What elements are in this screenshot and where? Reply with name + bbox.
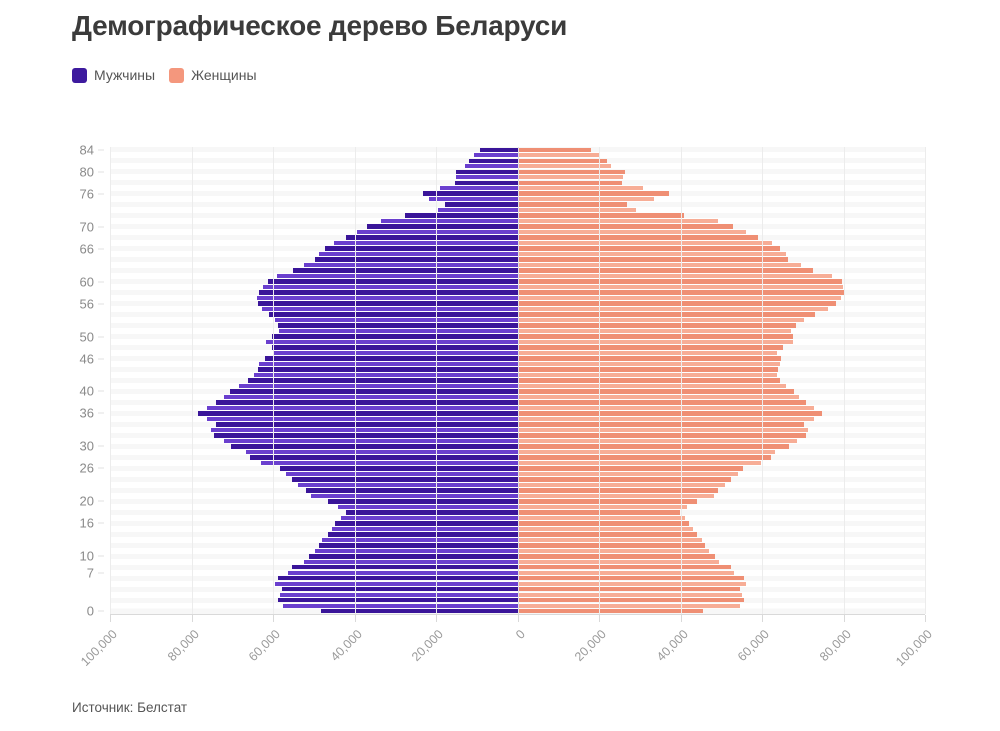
y-axis-tick-label: 40 [80,384,94,399]
gridline [355,147,356,614]
bar-female[interactable] [518,268,814,272]
bar-male[interactable] [469,159,517,163]
bar-male[interactable] [474,153,518,157]
bar-female[interactable] [518,406,814,410]
y-axis-tick-label: 30 [80,439,94,454]
bar-male[interactable] [315,549,518,553]
y-axis-tick-label: 36 [80,406,94,421]
bar-female[interactable] [518,175,623,179]
bar-male[interactable] [319,543,517,547]
plot-area [110,147,925,614]
bar-male[interactable] [273,351,518,355]
gridline [273,147,274,614]
source-note: Источник: Белстат [72,700,187,715]
bar-female[interactable] [518,554,715,558]
bar-male[interactable] [198,411,517,415]
bar-male[interactable] [278,576,518,580]
bar-female[interactable] [518,159,607,163]
y-axis-tick [98,501,104,502]
bar-female[interactable] [518,246,780,250]
y-axis-tick-label: 16 [80,516,94,531]
bar-female[interactable] [518,213,685,217]
bar-female[interactable] [518,527,693,531]
bar-female[interactable] [518,389,795,393]
x-axis-tick-label: 100,000 [78,627,120,669]
y-axis-tick [98,572,104,573]
bar-male[interactable] [292,565,517,569]
y-axis-tick [98,248,104,249]
bar-female[interactable] [518,301,837,305]
bar-female[interactable] [518,148,592,152]
bar-male[interactable] [277,274,517,278]
bar-male[interactable] [280,466,518,470]
bar-male[interactable] [278,323,517,327]
y-axis-tick [98,336,104,337]
x-axis-tick [110,615,111,622]
bar-male[interactable] [231,444,517,448]
zero-axis-line [518,147,519,614]
legend-label-females: Женщины [191,67,256,83]
x-axis-tick [273,615,274,622]
bar-male[interactable] [250,455,517,459]
bar-male[interactable] [269,312,517,316]
x-axis-tick-label: 20,000 [572,627,609,664]
bar-female[interactable] [518,532,698,536]
bar-female[interactable] [518,395,799,399]
y-axis-tick-label: 20 [80,494,94,509]
y-axis-tick [98,446,104,447]
bar-male[interactable] [278,598,518,602]
legend-swatch-males [72,68,87,83]
bar-female[interactable] [518,499,698,503]
y-axis-tick-label: 76 [80,186,94,201]
bar-female[interactable] [518,367,778,371]
legend-item-males[interactable]: Мужчины [72,67,155,83]
bar-female[interactable] [518,329,791,333]
bar-male[interactable] [304,560,518,564]
y-axis-tick [98,171,104,172]
bar-female[interactable] [518,307,829,311]
x-axis-tick-label: 40,000 [327,627,364,664]
x-axis-labels: 100,00080,00060,00040,00020,000020,00040… [0,615,1000,685]
bar-female[interactable] [518,197,655,201]
bar-male[interactable] [262,307,518,311]
y-axis-tick [98,611,104,612]
bar-female[interactable] [518,208,636,212]
bar-male[interactable] [338,505,517,509]
bar-female[interactable] [518,378,781,382]
bar-male[interactable] [293,268,517,272]
y-axis-tick [98,226,104,227]
y-axis-tick [98,149,104,150]
bar-male[interactable] [440,186,517,190]
bar-male[interactable] [259,362,517,366]
bar-male[interactable] [335,521,517,525]
bar-male[interactable] [275,318,518,322]
bar-female[interactable] [518,323,796,327]
bar-male[interactable] [346,510,518,514]
bar-female[interactable] [518,334,793,338]
bar-male[interactable] [445,202,518,206]
bar-female[interactable] [518,483,726,487]
bar-male[interactable] [456,175,518,179]
bar-male[interactable] [341,516,518,520]
population-pyramid-chart: Демографическое дерево Беларуси Мужчины … [0,0,1000,731]
bar-male[interactable] [315,257,517,261]
bar-male[interactable] [248,378,518,382]
y-axis-tick-label: 66 [80,241,94,256]
bar-male[interactable] [298,483,517,487]
bar-female[interactable] [518,488,718,492]
y-axis-labels: 8480767066605650464036302620161070 [0,147,104,614]
bar-female[interactable] [518,202,628,206]
bar-male[interactable] [214,433,518,437]
bar-male[interactable] [405,213,517,217]
x-axis-tick [599,615,600,622]
bar-female[interactable] [518,422,804,426]
gridline [762,147,763,614]
x-axis-tick-label: 100,000 [893,627,935,669]
bar-female[interactable] [518,494,714,498]
bar-male[interactable] [357,230,518,234]
bar-male[interactable] [258,367,518,371]
bar-female[interactable] [518,593,743,597]
bar-male[interactable] [292,477,518,481]
x-axis-tick-label: 60,000 [735,627,772,664]
y-axis-tick-label: 10 [80,549,94,564]
bar-male[interactable] [224,395,518,399]
bar-male[interactable] [480,148,517,152]
bar-female[interactable] [518,538,703,542]
bar-male[interactable] [216,400,518,404]
bar-male[interactable] [259,290,518,294]
x-axis-tick [192,615,193,622]
bar-male[interactable] [246,450,518,454]
y-axis-tick [98,468,104,469]
bar-male[interactable] [367,224,517,228]
bar-female[interactable] [518,455,771,459]
bar-male[interactable] [304,263,517,267]
bar-male[interactable] [268,279,518,283]
bar-female[interactable] [518,576,745,580]
bar-male[interactable] [207,406,517,410]
bar-female[interactable] [518,263,802,267]
chart-legend: Мужчины Женщины [72,67,257,83]
bar-female[interactable] [518,153,601,157]
x-axis-tick-label: 80,000 [816,627,853,664]
bar-female[interactable] [518,587,741,591]
bar-male[interactable] [322,538,517,542]
bar-female[interactable] [518,466,744,470]
bar-male[interactable] [279,329,518,333]
x-axis-tick-label: 40,000 [653,627,690,664]
bar-female[interactable] [518,345,783,349]
bar-male[interactable] [319,252,518,256]
bar-male[interactable] [346,235,517,239]
bar-male[interactable] [465,164,517,168]
bar-female[interactable] [518,516,685,520]
y-axis-tick [98,358,104,359]
gridline [110,147,111,614]
bar-female[interactable] [518,439,797,443]
bar-female[interactable] [518,560,720,564]
gridline [844,147,845,614]
bar-male[interactable] [258,301,518,305]
bar-male[interactable] [332,527,517,531]
bar-male[interactable] [288,571,517,575]
bar-female[interactable] [518,384,787,388]
bar-female[interactable] [518,241,773,245]
bar-male[interactable] [334,241,518,245]
x-axis-tick [355,615,356,622]
bar-male[interactable] [224,439,518,443]
y-axis-tick [98,193,104,194]
bar-male[interactable] [263,285,517,289]
bar-female[interactable] [518,373,778,377]
bar-male[interactable] [207,417,518,421]
bar-female[interactable] [518,312,815,316]
y-axis-tick-label: 84 [80,142,94,157]
bar-female[interactable] [518,362,781,366]
bar-female[interactable] [518,477,732,481]
bar-female[interactable] [518,565,731,569]
y-axis-tick [98,303,104,304]
bar-female[interactable] [518,428,809,432]
gridline [925,147,926,614]
bar-male[interactable] [328,532,518,536]
bar-male[interactable] [286,472,518,476]
bar-female[interactable] [518,582,747,586]
x-axis-tick-label: 20,000 [409,627,446,664]
y-axis-tick-label: 26 [80,461,94,476]
bar-female[interactable] [518,543,705,547]
bar-male[interactable] [309,554,518,558]
bar-female[interactable] [518,219,718,223]
bar-female[interactable] [518,257,789,261]
bar-female[interactable] [518,351,778,355]
y-axis-tick-label: 60 [80,274,94,289]
x-axis-tick [762,615,763,622]
bar-male[interactable] [311,494,518,498]
bar-male[interactable] [257,296,517,300]
bar-male[interactable] [216,422,517,426]
bar-female[interactable] [518,340,794,344]
bar-female[interactable] [518,164,612,168]
bar-male[interactable] [283,604,518,608]
y-axis-tick [98,523,104,524]
gridline [436,147,437,614]
bar-female[interactable] [518,224,734,228]
bar-female[interactable] [518,571,735,575]
bar-female[interactable] [518,444,790,448]
bar-female[interactable] [518,191,669,195]
bar-male[interactable] [306,488,518,492]
bar-male[interactable] [239,384,517,388]
bar-male[interactable] [261,461,517,465]
bar-female[interactable] [518,186,644,190]
bar-female[interactable] [518,604,740,608]
bar-male[interactable] [381,219,518,223]
bar-female[interactable] [518,505,688,509]
y-axis-tick-label: 56 [80,296,94,311]
bar-female[interactable] [518,274,833,278]
gridline [192,147,193,614]
x-axis-tick-label: 60,000 [246,627,283,664]
bar-male[interactable] [254,373,517,377]
x-axis-tick-label: 0 [513,627,528,642]
bar-female[interactable] [518,235,758,239]
bar-female[interactable] [518,609,704,613]
legend-label-males: Мужчины [94,67,155,83]
y-axis-tick-label: 50 [80,329,94,344]
bar-male[interactable] [455,181,517,185]
bar-male[interactable] [438,208,517,212]
x-axis-tick [518,615,519,622]
bar-female[interactable] [518,356,781,360]
y-axis-tick [98,556,104,557]
bar-female[interactable] [518,170,626,174]
bar-male[interactable] [211,428,517,432]
bar-female[interactable] [518,417,814,421]
x-axis-tick [681,615,682,622]
bar-male[interactable] [272,345,518,349]
bar-female[interactable] [518,230,746,234]
y-axis-tick-label: 70 [80,219,94,234]
bar-male[interactable] [321,609,517,613]
bar-male[interactable] [265,356,518,360]
bar-male[interactable] [328,499,518,503]
bar-female[interactable] [518,472,738,476]
bar-female[interactable] [518,411,823,415]
bar-female[interactable] [518,521,690,525]
legend-item-females[interactable]: Женщины [169,67,256,83]
x-axis-tick [844,615,845,622]
y-axis-tick [98,391,104,392]
bar-male[interactable] [272,334,518,338]
bar-male[interactable] [280,593,518,597]
y-axis-tick [98,413,104,414]
chart-title: Демографическое дерево Беларуси [72,10,567,42]
y-axis-tick-label: 7 [87,565,94,580]
bar-male[interactable] [429,197,517,201]
y-axis-tick-label: 80 [80,164,94,179]
x-axis-tick [436,615,437,622]
x-axis-tick [925,615,926,622]
gridline [599,147,600,614]
bar-male[interactable] [282,587,518,591]
bar-female[interactable] [518,296,841,300]
bar-female[interactable] [518,450,776,454]
bar-male[interactable] [266,340,518,344]
bar-female[interactable] [518,252,787,256]
legend-swatch-females [169,68,184,83]
bar-male[interactable] [275,582,517,586]
x-axis-tick-label: 80,000 [164,627,201,664]
bar-female[interactable] [518,461,761,465]
bar-female[interactable] [518,433,807,437]
bar-female[interactable] [518,181,622,185]
bar-female[interactable] [518,598,745,602]
gridline [681,147,682,614]
y-axis-tick [98,281,104,282]
y-axis-tick-label: 46 [80,351,94,366]
bar-male[interactable] [456,170,518,174]
